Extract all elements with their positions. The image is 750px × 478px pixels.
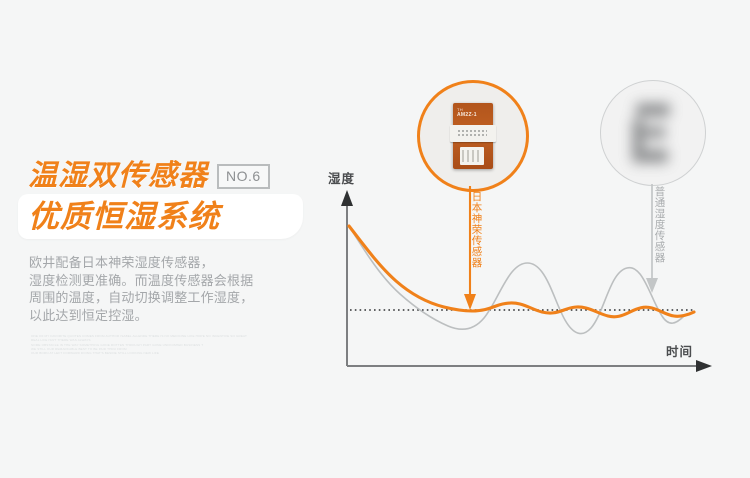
hero-title-row: 温湿双传感器 NO.6: [28, 158, 328, 194]
pcb-silkscreen-text: THAM2Z-1: [457, 107, 477, 118]
hero-heading-group: 温湿双传感器 NO.6: [28, 158, 328, 194]
sensor-element: [450, 125, 496, 142]
body-line: 欧井配备日本神荣湿度传感器，: [29, 254, 304, 272]
body-line: 湿度检测更准确。而温度传感器会根据: [29, 272, 304, 290]
body-line: 周围的温度，自动切换调整工作湿度，: [29, 289, 304, 307]
arrow-right-icon: [696, 360, 712, 372]
callout-label-shinei: 日本神荣传感器: [470, 191, 482, 268]
ordinary-sensor-blurred-image: [630, 101, 676, 165]
arrow-up-icon: [341, 190, 353, 206]
x-axis: [347, 360, 712, 372]
x-axis-label: 时间: [666, 341, 693, 360]
y-axis: [341, 190, 353, 366]
status-badge: NO.6: [217, 164, 270, 189]
y-axis-label: 湿度: [328, 168, 355, 187]
promo-banner: 温湿双传感器 NO.6 优质恒湿系统 欧井配备日本神荣湿度传感器， 湿度检测更准…: [0, 0, 750, 478]
body-line: 以此达到恒定控湿。: [29, 307, 304, 325]
callout-label-ordinary: 普通湿度传感器: [653, 186, 665, 263]
sensor-grille: [457, 129, 487, 138]
micro-line: OUR BORN AT LEFT FORWARD DOING THAT'S BE…: [31, 351, 293, 355]
series-shinei-sensor-line: [349, 226, 694, 317]
decorative-micro-text: ONE OF MY FAVORITE QUOTES COMES FROM AUT…: [31, 334, 293, 355]
series-ordinary-sensor-line: [349, 226, 684, 334]
hero-subtitle: 优质恒湿系统: [28, 197, 220, 237]
hero-body-copy: 欧井配备日本神荣湿度传感器， 湿度检测更准确。而温度传感器会根据 周围的温度，自…: [29, 254, 304, 324]
page-title: 温湿双传感器: [28, 162, 208, 191]
